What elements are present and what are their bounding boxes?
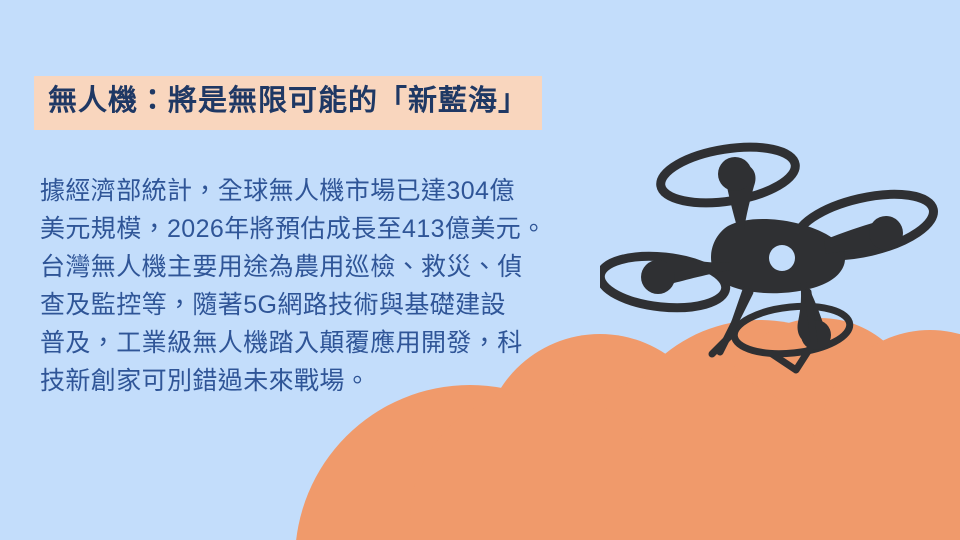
drone-sensor-lens bbox=[769, 245, 795, 271]
body-line: 技新創家可別錯過未來戰場。 bbox=[40, 362, 520, 400]
slide-canvas: 無人機：將是無限可能的「新藍海」 據經濟部統計，全球無人機市場已達304億 美元… bbox=[0, 0, 960, 540]
page-title: 無人機：將是無限可能的「新藍海」 bbox=[34, 76, 542, 130]
body-line: 台灣無人機主要用途為農用巡檢、救災、偵 bbox=[40, 248, 520, 286]
title-block: 無人機：將是無限可能的「新藍海」 bbox=[34, 76, 542, 130]
drone-motor-top-right bbox=[869, 216, 903, 250]
propeller-ring-bottom-right bbox=[732, 301, 852, 359]
drone-motor-bottom-left bbox=[641, 260, 675, 294]
body-line: 據經濟部統計，全球無人機市場已達304億 bbox=[40, 172, 520, 210]
body-paragraph: 據經濟部統計，全球無人機市場已達304億 美元規模，2026年將預估成長至413… bbox=[40, 172, 520, 400]
body-line: 普及，工業級無人機踏入顛覆應用開發，科 bbox=[40, 324, 520, 362]
body-line: 查及監控等，隨著5G網路技術與基礎建設 bbox=[40, 286, 520, 324]
quadcopter-drone-illustration bbox=[600, 130, 960, 390]
drone-motor-top-left bbox=[718, 157, 752, 191]
body-line: 美元規模，2026年將預估成長至413億美元。 bbox=[40, 210, 520, 248]
